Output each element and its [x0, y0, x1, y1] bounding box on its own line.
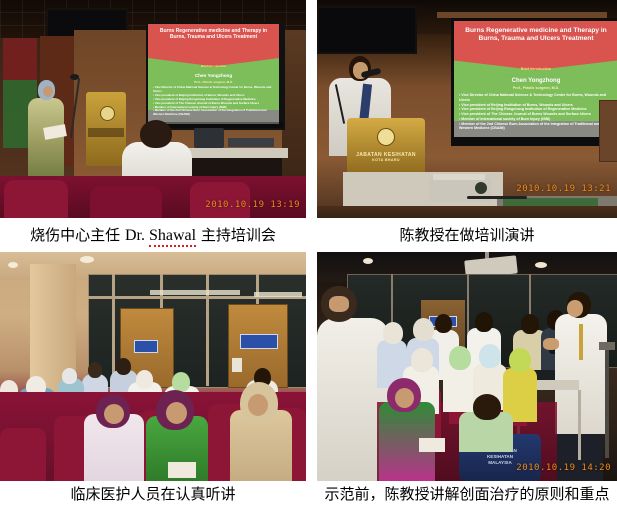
av-table [180, 148, 288, 158]
photo-1-wrapper: Burns Regenerative medicine and Therapy … [0, 0, 306, 218]
attendee-headscarf [479, 344, 501, 368]
photo-timestamp: 2010.10.19 13:19 [205, 200, 300, 210]
attendee-head [116, 358, 131, 375]
photo-grid: Burns Regenerative medicine and Therapy … [0, 0, 617, 507]
iv-stand-top [599, 342, 615, 350]
photo-3-caption: 临床医护人员在认真听讲 [0, 481, 306, 507]
seat [0, 428, 46, 481]
photo-1-image: Burns Regenerative medicine and Therapy … [0, 0, 306, 218]
slide-title: Burns Regenerative medicine and Therapy … [153, 28, 274, 41]
speaker-body [28, 98, 64, 182]
wall-monitor [317, 6, 417, 54]
attendee-head [88, 362, 102, 378]
staff-head [521, 314, 539, 334]
slide-presenter-name: Chen Yongzhong [148, 73, 279, 78]
microphone-head [70, 74, 79, 80]
professor-hand [543, 338, 559, 350]
attendee-headscarf [62, 368, 77, 384]
floor [317, 206, 617, 218]
foreground-man-face [329, 296, 349, 312]
seated-patient-head [473, 394, 501, 420]
ceiling-light [80, 256, 94, 263]
door-sign [240, 334, 278, 349]
photo-4-caption: 示范前，陈教授讲解创面治疗的原则和重点 [317, 481, 617, 507]
projector-top [433, 174, 485, 180]
door-sign [134, 340, 158, 353]
seat [90, 186, 162, 218]
ceiling-light [535, 262, 547, 268]
photo-4-wrapper: KEMENTERIAN KESIHATAN MALAYSIA 2010.10.1… [317, 252, 617, 481]
slide-subtitle: Brief Introduction [454, 67, 617, 71]
slide-presenter-name: Chen Yongzhong [454, 78, 617, 84]
photo-cell-2: Burns Regenerative medicine and Therapy … [317, 0, 617, 252]
photo-cell-4: KEMENTERIAN KESIHATAN MALAYSIA 2010.10.1… [317, 252, 617, 507]
wall-phone [232, 358, 242, 372]
caption-text-prefix: 烧伤中心主任 [30, 226, 125, 244]
podium-inscription-line2: KOTA BHARU [349, 158, 423, 162]
attendee-body [443, 366, 477, 412]
projected-slide: Burns Regenerative medicine and Therapy … [454, 21, 617, 137]
attendee-headscarf [413, 318, 434, 341]
iv-stand [605, 348, 609, 458]
photo-timestamp: 2010.10.19 13:21 [516, 184, 611, 194]
podium [347, 118, 425, 178]
slide-presenter-role: Prof., Plastic surgeon, M.D. [148, 80, 279, 84]
handout-paper [168, 462, 196, 478]
corridor-light [150, 290, 240, 295]
wall-panel [599, 100, 617, 162]
photo-4-image: KEMENTERIAN KESIHATAN MALAYSIA 2010.10.1… [317, 252, 617, 481]
slide-presenter-role: Prof., Plastic surgeon, M.D. [454, 86, 617, 90]
attendee-headscarf [383, 322, 403, 344]
podium-inscription: JABATAN KESIHATAN KOTA BHARU [349, 152, 423, 162]
staff-head [475, 312, 493, 332]
projected-slide: Burns Regenerative medicine and Therapy … [148, 24, 279, 124]
caption-misspelled-word: Shawal [149, 227, 196, 247]
ceiling-light [363, 258, 373, 264]
projector-lens [475, 182, 487, 194]
ceiling-light [8, 262, 18, 268]
attendee-headscarf [172, 372, 190, 392]
attendee-face [166, 402, 187, 424]
photo-3-image [0, 252, 306, 481]
seated-attendee-head [140, 120, 172, 148]
handout-paper [419, 438, 445, 452]
window-mullion [112, 274, 115, 386]
slide-bullets: • Vice Director of China National Scienc… [459, 93, 613, 131]
photo-2-caption: 陈教授在做培训演讲 [317, 218, 617, 252]
staff-head [435, 314, 452, 333]
caption-title-latin: Dr. [125, 227, 149, 244]
podium-emblem [377, 128, 395, 146]
photo-1-caption: 烧伤中心主任 Dr. Shawal 主持培训会 [0, 218, 306, 252]
caption-text-suffix: 主持培训会 [196, 226, 276, 244]
slide-subtitle: Brief Introduction [148, 64, 279, 68]
podium-nameplate [88, 128, 124, 137]
photo-cell-3: 临床医护人员在认真听讲 [0, 252, 306, 507]
professor-lanyard [579, 324, 583, 360]
photo-timestamp: 2010.10.19 14:20 [516, 463, 611, 473]
photo-report-page: Burns Regenerative medicine and Therapy … [0, 0, 617, 511]
attendee-face [104, 404, 124, 424]
slide-title: Burns Regenerative medicine and Therapy … [459, 27, 613, 43]
av-equipment [194, 128, 224, 148]
attendee-face [248, 394, 268, 416]
photo-3-wrapper [0, 252, 306, 481]
slide-bullets: • Vice Director of China National Scienc… [153, 86, 274, 117]
photo-2-image: Burns Regenerative medicine and Therapy … [317, 0, 617, 218]
attendee-face [395, 388, 414, 408]
speaker-face [43, 86, 53, 97]
cable [467, 196, 527, 199]
attendee-headscarf [449, 346, 471, 370]
podium-emblem [100, 106, 115, 121]
photo-cell-1: Burns Regenerative medicine and Therapy … [0, 0, 306, 252]
photo-2-wrapper: Burns Regenerative medicine and Therapy … [317, 0, 617, 218]
attendee-headscarf [136, 370, 153, 389]
av-equipment-secondary [228, 138, 274, 147]
professor-face [567, 300, 583, 317]
attendee-headscarf [509, 348, 531, 372]
seat [4, 180, 68, 218]
corridor-light [254, 292, 302, 297]
attendee-headscarf [411, 348, 433, 372]
